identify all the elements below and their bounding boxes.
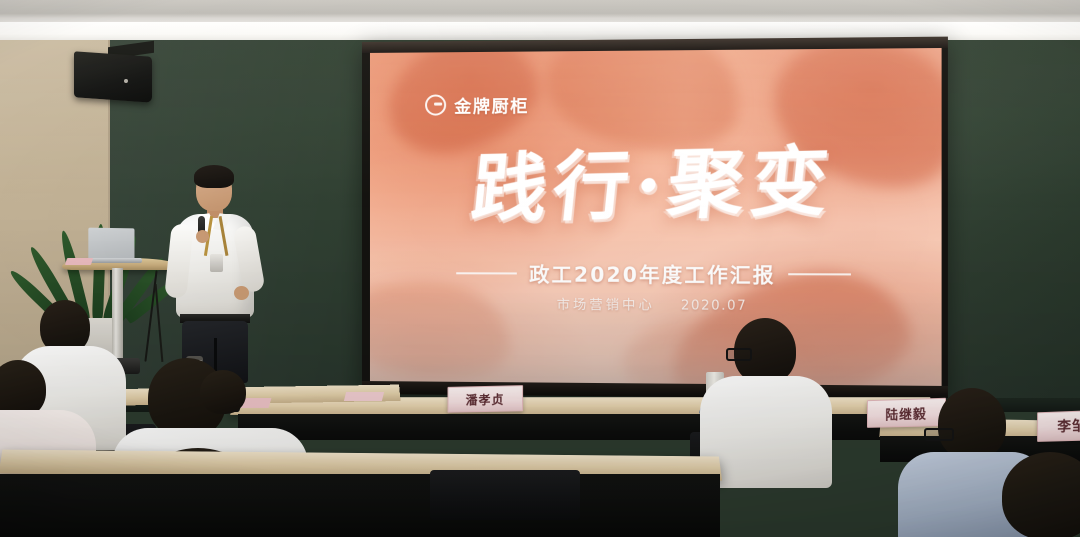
chair <box>430 470 580 520</box>
paper-on-desk <box>344 392 384 401</box>
wall-speaker-icon <box>74 51 152 102</box>
audience-head <box>938 388 1006 460</box>
nameplate: 潘孝贞 <box>448 385 524 413</box>
audience-member <box>1002 452 1080 537</box>
audience-member <box>200 370 290 440</box>
audience-head <box>200 370 246 414</box>
eyeglasses-icon <box>726 348 752 361</box>
presenter-figure <box>160 168 272 380</box>
audience-head <box>1002 452 1080 537</box>
screen-glare <box>370 48 942 386</box>
laptop <box>88 228 134 261</box>
meeting-room-photo: 金牌厨柜 践行·聚变 政工2020年度工作汇报 市场营销中心 2020.07 <box>0 0 1080 537</box>
presenter-hand <box>234 286 249 300</box>
projection-screen: 金牌厨柜 践行·聚变 政工2020年度工作汇报 市场营销中心 2020.07 <box>362 37 948 400</box>
table-front-skirt <box>0 474 720 537</box>
presenter-hand <box>196 230 209 243</box>
eyeglasses-icon <box>924 428 954 441</box>
paper-sheet <box>65 258 93 265</box>
presentation-slide: 金牌厨柜 践行·聚变 政工2020年度工作汇报 市场营销中心 2020.07 <box>370 48 942 386</box>
badge <box>210 254 223 272</box>
speaker-led-icon <box>124 79 128 83</box>
presenter-hair <box>194 165 234 188</box>
